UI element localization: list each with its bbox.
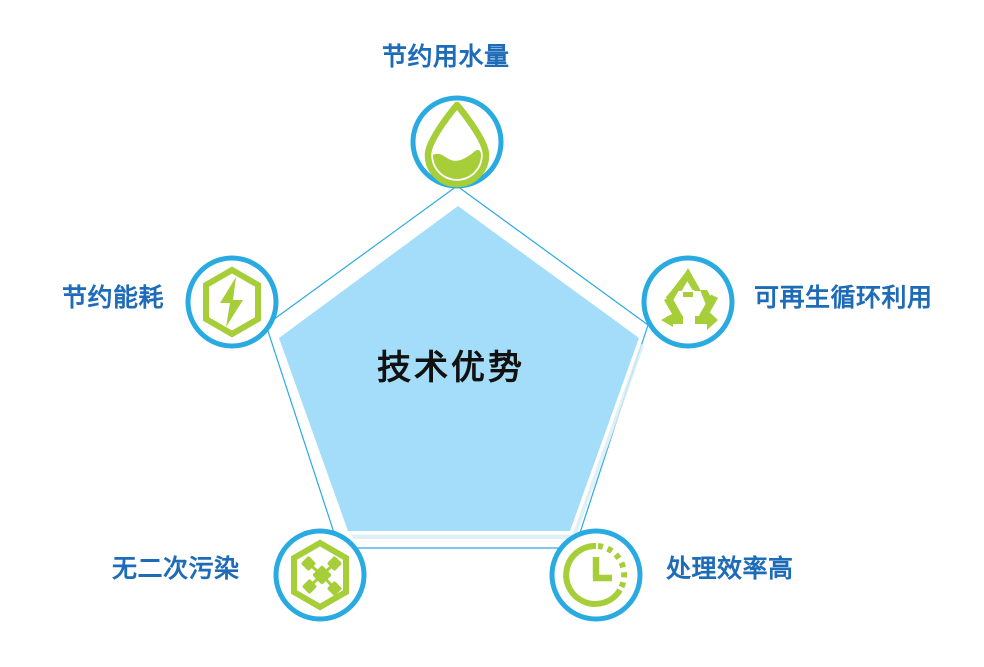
center-title: 技术优势 <box>377 351 525 385</box>
node-label-no-secondary-pollution: 无二次污染 <box>112 557 240 582</box>
node-label-energy-saving: 节约能耗 <box>62 286 164 311</box>
node-water-saving[interactable] <box>413 98 501 186</box>
node-energy-saving[interactable] <box>188 258 276 346</box>
node-label-water-saving: 节约用水量 <box>382 45 510 70</box>
node-high-efficiency[interactable] <box>552 531 640 619</box>
node-no-secondary-pollution[interactable] <box>276 531 364 619</box>
node-recyclable[interactable] <box>644 258 732 346</box>
diagram-canvas: 节约用水量 可再生循环利用 节约能耗 无二次污染 处理效率高 技术优势 <box>0 0 984 667</box>
node-label-recyclable: 可再生循环利用 <box>754 286 933 311</box>
node-label-high-efficiency: 处理效率高 <box>666 557 794 582</box>
